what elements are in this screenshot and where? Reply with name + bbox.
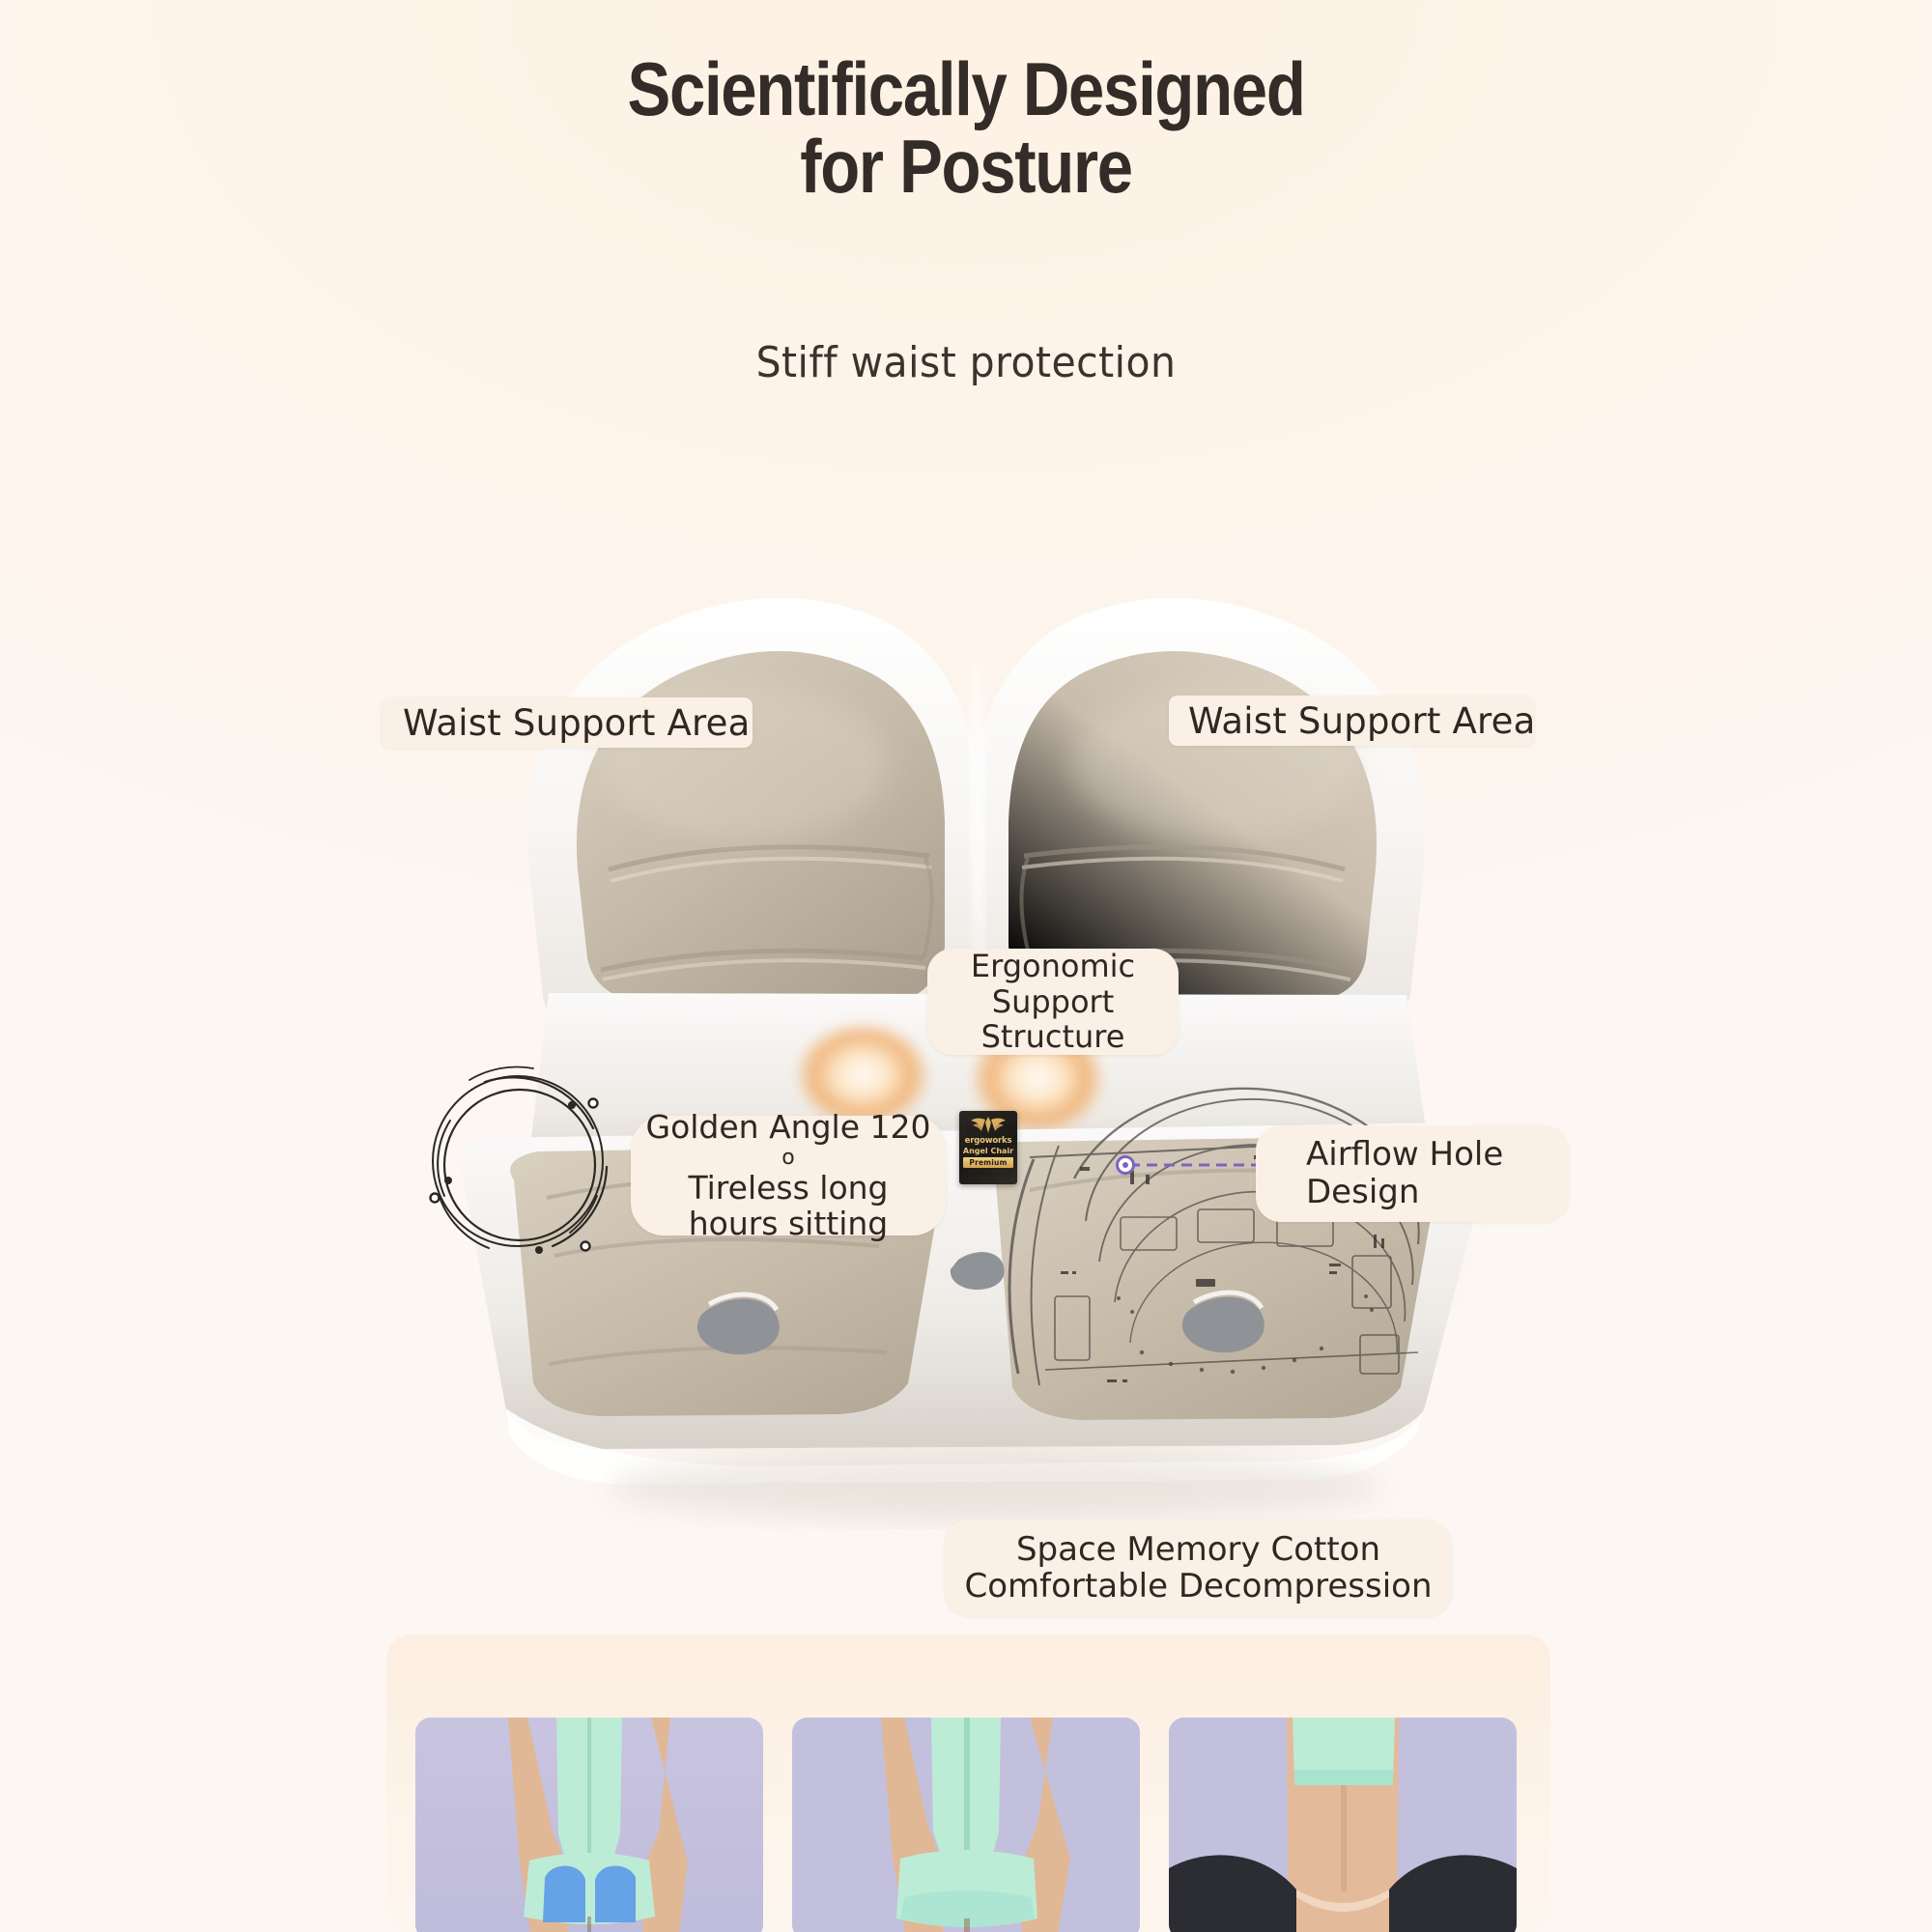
callout-golden-angle-value: Golden Angle 120 [646, 1109, 931, 1146]
callout-memory-line-2: Comfortable Decompression [964, 1568, 1432, 1605]
callout-memory-line-1: Space Memory Cotton [1016, 1531, 1380, 1568]
callout-waist-support-right-text: Waist Support Area [1188, 700, 1536, 742]
page-subtitle: Stiff waist protection [68, 338, 1864, 387]
page-title-line-2: for Posture [135, 128, 1797, 205]
callout-memory-cotton: Space Memory Cotton Comfortable Decompre… [945, 1520, 1452, 1616]
callout-ergonomic-line-1: Ergonomic [971, 949, 1135, 983]
callout-waist-support-left-text: Waist Support Area [403, 702, 751, 744]
infographic-canvas: Scientifically Designed for Posture Stif… [0, 0, 1932, 1932]
brand-badge: ergoworks Angel Chair Premium [959, 1111, 1017, 1184]
page-title: Scientifically Designed for Posture [135, 50, 1797, 206]
callout-airflow-hole: Airflow Hole Design [1256, 1125, 1569, 1222]
usage-panel-1 [415, 1718, 763, 1932]
usage-panel-2 [792, 1718, 1140, 1932]
usage-illustration-card [386, 1634, 1550, 1932]
badge-brand-name: ergoworks [965, 1136, 1012, 1146]
usage-panel-3 [1169, 1718, 1517, 1932]
callout-waist-support-right: Waist Support Area [1169, 696, 1534, 746]
page-title-line-1: Scientifically Designed [627, 46, 1304, 131]
decorative-circle-graphic [417, 1061, 622, 1265]
callout-golden-angle-line-2: Tireless long [688, 1170, 888, 1207]
callout-ergonomic-support: Ergonomic Support Structure [927, 949, 1179, 1055]
badge-product-name: Angel Chair [963, 1147, 1013, 1155]
degree-symbol-icon: o [646, 1146, 931, 1170]
callout-golden-angle-line-1: Golden Angle 120o [646, 1109, 931, 1170]
callout-golden-angle: Golden Angle 120o Tireless long hours si… [631, 1116, 946, 1236]
badge-tier-label: Premium [963, 1157, 1012, 1168]
wings-logo-icon [969, 1114, 1008, 1135]
callout-golden-angle-line-3: hours sitting [689, 1206, 889, 1242]
callout-waist-support-left: Waist Support Area [382, 697, 753, 748]
callout-ergonomic-line-2: Support [992, 984, 1115, 1019]
callout-airflow-line-1: Airflow Hole [1306, 1136, 1503, 1174]
callout-ergonomic-line-3: Structure [981, 1019, 1125, 1054]
callout-airflow-line-2: Design [1306, 1174, 1419, 1211]
